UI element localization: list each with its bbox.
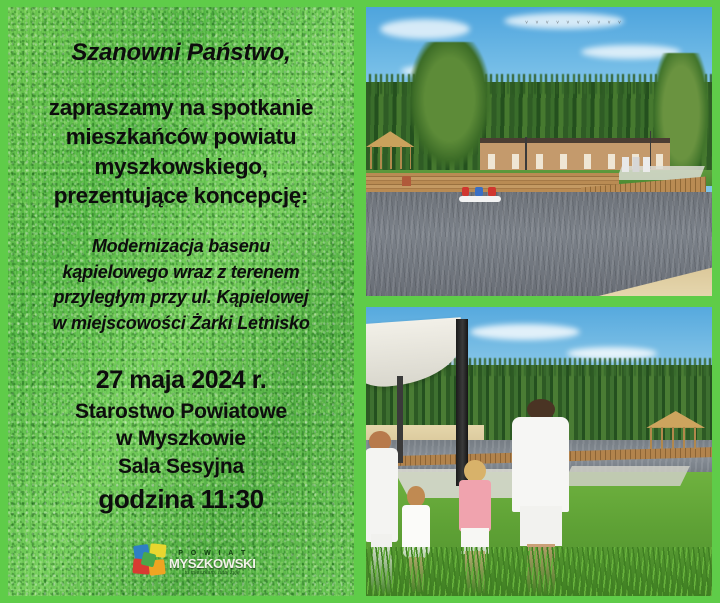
boat-passenger	[462, 187, 469, 196]
text-panel: Szanowni Państwo, zapraszamy na spotkani…	[0, 0, 360, 603]
large-tree	[408, 42, 491, 169]
event-date: 27 maja 2024 r.	[18, 366, 344, 395]
invitation-line-3: myszkowskiego,	[18, 152, 344, 181]
venue-line-3: Sala Sesyjna	[18, 453, 344, 480]
foreground-grass	[366, 547, 712, 596]
venue-line-2: w Myszkowie	[18, 425, 344, 452]
logo-container: P O W I A T MYSZKOWSKI tu mieszkam, tuta…	[18, 542, 344, 588]
pedal-boat	[459, 188, 501, 202]
invitation-line-4: prezentujące koncepcję:	[18, 181, 344, 210]
project-line-3: przyległym przy ul. Kąpielowej	[18, 285, 344, 311]
announcement-text-stack: Szanowni Państwo, zapraszamy na spotkani…	[8, 7, 354, 596]
grass-background: Szanowni Państwo, zapraszamy na spotkani…	[8, 7, 354, 596]
cloud	[380, 19, 470, 39]
torso	[366, 448, 398, 542]
project-line-4: w miejscowości Żarki Letnisko	[18, 311, 344, 337]
invitation-line-2: mieszkańców powiatu	[18, 122, 344, 151]
gazebo-posts	[650, 427, 701, 449]
boat-hull	[459, 196, 501, 202]
gazebo-roof	[366, 131, 414, 147]
pool-water	[366, 192, 712, 296]
puzzle-pieces-icon	[133, 544, 167, 582]
torso	[459, 480, 491, 532]
logo-myszkowski-text: MYSZKOWSKI	[169, 557, 256, 570]
boat-passenger	[475, 187, 482, 196]
people-group	[622, 157, 653, 171]
powiat-myszkowski-logo: P O W I A T MYSZKOWSKI tu mieszkam, tuta…	[133, 542, 229, 584]
salutation: Szanowni Państwo,	[18, 39, 344, 67]
head	[407, 486, 424, 507]
project-line-1: Modernizacja basenu	[18, 234, 344, 260]
gazebo-left	[366, 131, 414, 169]
logo-wordmark: P O W I A T MYSZKOWSKI tu mieszkam, tuta…	[169, 550, 256, 576]
gazebo-posts	[370, 146, 411, 169]
gazebo-roof	[646, 411, 705, 428]
birds-icon: ˅ ˅ ˅ ˅ ˅ ˅ ˅ ˅ ˅ ˅	[525, 21, 677, 47]
logo-tagline: tu mieszkam, tutaj żyję	[169, 571, 256, 576]
poster-root: Szanowni Państwo, zapraszamy na spotkani…	[0, 0, 720, 603]
invitation-block: zapraszamy na spotkanie mieszkańców powi…	[18, 93, 344, 210]
head	[464, 460, 485, 482]
project-line-2: kąpielowego wraz z terenem	[18, 260, 344, 286]
invitation-line-1: zapraszamy na spotkanie	[18, 93, 344, 122]
shorts	[520, 506, 562, 546]
event-time: godzina 11:30	[18, 484, 344, 515]
pool-visualization-photo: ˅ ˅ ˅ ˅ ˅ ˅ ˅ ˅ ˅ ˅	[366, 7, 712, 296]
walkway-secondary	[562, 466, 689, 486]
venue-line-1: Starostwo Powiatowe	[18, 398, 344, 425]
lamp-post	[525, 137, 527, 172]
event-venue-block: Starostwo Powiatowe w Myszkowie Sala Ses…	[18, 398, 344, 480]
seated-person	[402, 176, 411, 186]
boat-passenger	[488, 187, 495, 196]
family-visualization-photo	[366, 307, 712, 596]
torso	[512, 417, 568, 512]
photo-panel: ˅ ˅ ˅ ˅ ˅ ˅ ˅ ˅ ˅ ˅	[360, 0, 720, 603]
gazebo-right	[646, 411, 705, 449]
project-title-block: Modernizacja basenu kąpielowego wraz z t…	[18, 234, 344, 336]
